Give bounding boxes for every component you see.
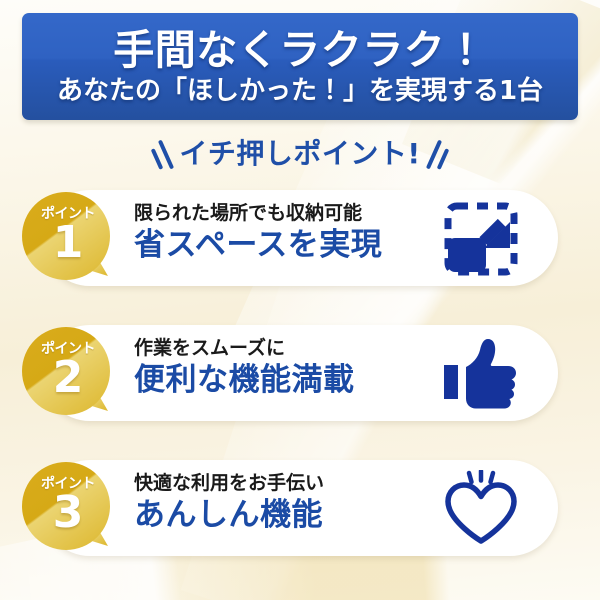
point-card: ポイント 1 限られた場所でも収納可能 省スペースを実現 [42, 190, 558, 286]
point-subtitle: 快適な利用をお手伝い [134, 474, 324, 493]
banner-title: 手間なくラクラク！ [113, 30, 487, 71]
point-subtitle: 限られた場所でも収納可能 [134, 204, 382, 223]
heart-sparkle-icon [442, 470, 520, 548]
double-slash-left-icon [155, 134, 168, 170]
section-heading-label: イチ押しポイント! [179, 132, 420, 172]
point-subtitle: 作業をスムーズに [134, 339, 355, 358]
point-headline: あんしん機能 [134, 500, 324, 531]
point-headline: 便利な機能満載 [134, 365, 355, 396]
header-banner: 手間なくラクラク！ あなたの「ほしかった！」を実現する1台 [22, 13, 578, 120]
point-card-texts: 快適な利用をお手伝い あんしん機能 [134, 474, 324, 531]
point-badge: ポイント 2 [20, 325, 116, 421]
thumbs-up-icon [442, 335, 520, 413]
banner-subtitle: あなたの「ほしかった！」を実現する1台 [57, 78, 543, 104]
point-card-texts: 限られた場所でも収納可能 省スペースを実現 [134, 204, 382, 261]
point-card-texts: 作業をスムーズに 便利な機能満載 [134, 339, 355, 396]
point-badge-number: 2 [20, 356, 116, 400]
point-badge: ポイント 3 [20, 460, 116, 556]
point-card: ポイント 2 作業をスムーズに 便利な機能満載 [42, 325, 558, 421]
point-card: ポイント 3 快適な利用をお手伝い あんしん機能 [42, 460, 558, 556]
point-headline: 省スペースを実現 [134, 230, 382, 261]
compact-space-icon [442, 200, 520, 278]
point-badge: ポイント 1 [20, 190, 116, 286]
point-badge-number: 3 [20, 491, 116, 535]
point-badge-number: 1 [20, 221, 116, 265]
section-heading: イチ押しポイント! [0, 128, 600, 176]
double-slash-right-icon [432, 134, 445, 170]
promo-graphic: 手間なくラクラク！ あなたの「ほしかった！」を実現する1台 イチ押しポイント! [0, 0, 600, 600]
